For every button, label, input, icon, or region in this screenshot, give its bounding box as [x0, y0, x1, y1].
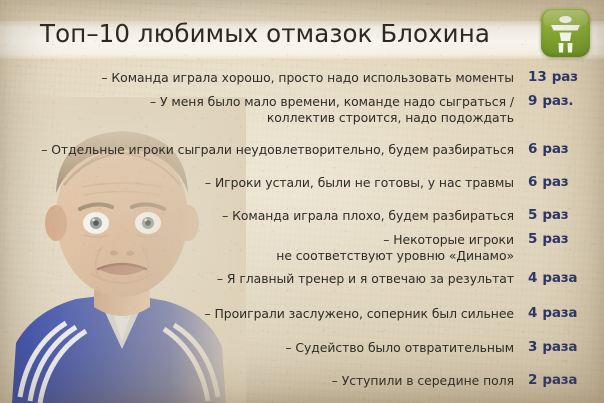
excuse-count-number: 3 [528, 339, 537, 355]
excuse-row: – Я главный тренер и я отвечаю за резуль… [0, 271, 604, 287]
excuse-count: 13раз [514, 70, 594, 86]
excuse-text: – Судейство было отвратительным [285, 340, 514, 356]
excuse-count-unit: раз [542, 141, 568, 157]
excuse-count-unit: раз [542, 231, 568, 247]
excuse-count-unit: раз [552, 69, 578, 85]
excuse-row: – Команда играла плохо, будем разбиратьс… [0, 208, 604, 224]
excuse-count-number: 9 [528, 93, 537, 109]
inukshuk-figure [551, 16, 580, 53]
excuse-count: 6раз [514, 142, 594, 158]
excuse-count-unit: раз [542, 207, 568, 223]
excuse-text: – Некоторые игроки не соответствуют уров… [276, 232, 514, 263]
excuse-count-unit: раза [542, 305, 577, 321]
excuse-text: – Уступили в середине поля [332, 373, 514, 389]
excuse-text: – Команда играла плохо, будем разбиратьс… [222, 208, 514, 224]
page-title: Топ–10 любимых отмазок Блохина [0, 19, 530, 48]
excuse-text: – Отдельные игроки сыграли неудовлетвори… [41, 142, 514, 158]
excuse-row: – Проиграли заслужено, соперник был силь… [0, 306, 604, 322]
excuse-count-number: 5 [528, 231, 537, 247]
excuse-count-unit: раз. [542, 93, 573, 109]
excuse-text: – Игроки устали, были не готовы, у нас т… [205, 175, 514, 191]
excuse-row: – Уступили в середине поля2раза [0, 373, 604, 389]
excuse-count: 4раза [514, 271, 594, 287]
excuse-count-unit: раза [542, 270, 577, 286]
excuse-count: 9раз. [514, 94, 594, 110]
inukshuk-logo[interactable] [541, 8, 590, 57]
excuse-count-number: 2 [528, 372, 537, 388]
excuse-row: – Команда играла хорошо, просто надо исп… [0, 70, 604, 86]
excuse-text: – Проиграли заслужено, соперник был силь… [204, 306, 514, 322]
excuse-row: – Отдельные игроки сыграли неудовлетвори… [0, 142, 604, 158]
poster: Топ–10 любимых отмазок Блохина – Команда… [0, 0, 604, 403]
excuse-count-unit: раза [542, 372, 577, 388]
excuse-count-number: 6 [528, 141, 537, 157]
excuse-count: 4раза [514, 306, 594, 322]
excuse-row: – Судейство было отвратительным3раза [0, 340, 604, 356]
excuse-count: 2раза [514, 373, 594, 389]
excuse-count-unit: раза [542, 339, 577, 355]
excuse-count-unit: раз [542, 174, 568, 190]
excuse-count-number: 4 [528, 270, 537, 286]
excuse-count: 5раз [514, 208, 594, 224]
excuse-count-number: 6 [528, 174, 537, 190]
excuse-text: – Команда играла хорошо, просто надо исп… [101, 70, 514, 86]
excuse-row: – Некоторые игроки не соответствуют уров… [0, 232, 604, 263]
excuse-count-number: 13 [528, 69, 547, 85]
excuse-count: 5раз [514, 232, 594, 248]
excuse-count: 6раз [514, 175, 594, 191]
excuse-count-number: 5 [528, 207, 537, 223]
excuse-text: – У меня было мало времени, команде надо… [150, 94, 514, 125]
excuse-text: – Я главный тренер и я отвечаю за резуль… [217, 271, 514, 287]
excuse-count-number: 4 [528, 305, 537, 321]
excuse-row: – У меня было мало времени, команде надо… [0, 94, 604, 125]
excuse-count: 3раза [514, 340, 594, 356]
excuse-row: – Игроки устали, были не готовы, у нас т… [0, 175, 604, 191]
